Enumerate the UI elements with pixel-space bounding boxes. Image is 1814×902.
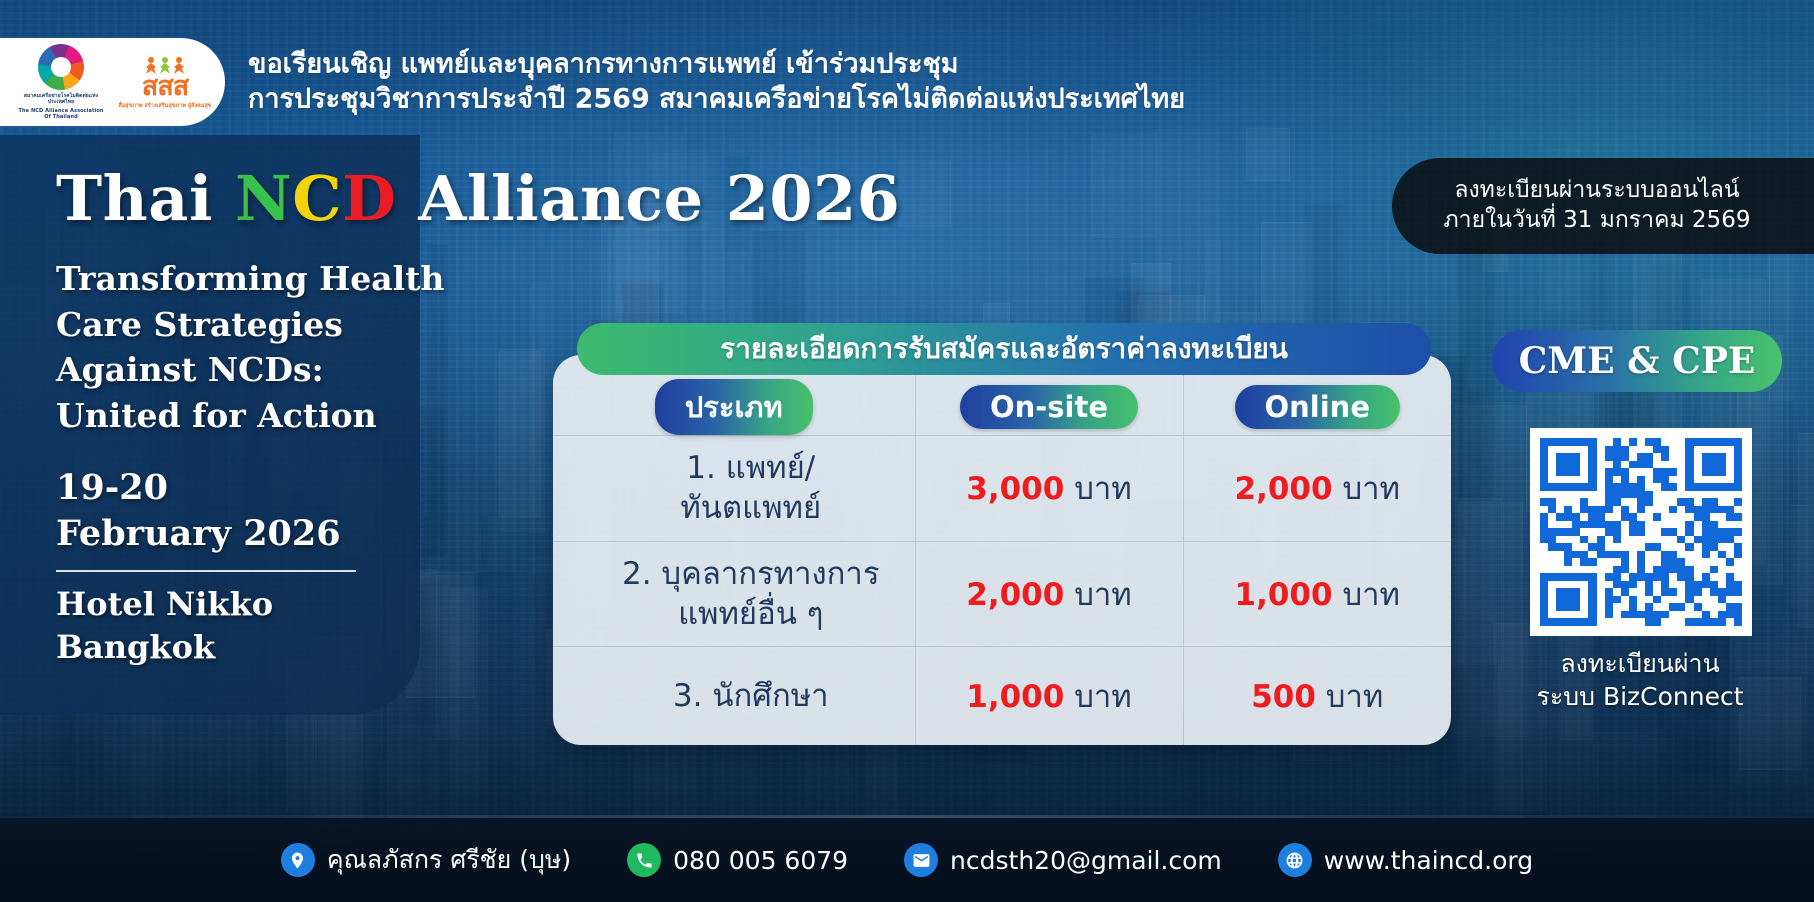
row-2-category-line-2: แพทย์อื่น ๆ xyxy=(597,594,905,634)
event-venue: Hotel Nikko Bangkok xyxy=(56,583,273,669)
sss-people-icon xyxy=(145,54,185,74)
deadline-line-1: ลงทะเบียนผ่านระบบออนไลน์ xyxy=(1454,176,1739,206)
theme-line-1: Transforming Health xyxy=(56,256,444,302)
table-row: 2. บุคลากรทางการ แพทย์อื่น ๆ 2,000 บาท 1… xyxy=(553,541,1451,647)
ncd-alliance-logo-text-th: สมาคมเครือข่ายโรคไม่ติดต่อแห่งประเทศไทย xyxy=(18,93,104,106)
table-row: 1. แพทย์/ ทันตแพทย์ 3,000 บาท 2,000 บาท xyxy=(553,436,1451,542)
ncd-alliance-logo-text-en: The NCD Alliance Association Of Thailand xyxy=(18,108,104,121)
contact-bar: คุณลภัสกร ศรีชัย (บุษ) 080 005 6079 ncds… xyxy=(0,818,1814,902)
event-date: 19-20 February 2026 xyxy=(56,465,341,556)
row-3-online-amount: 500 xyxy=(1251,679,1316,715)
row-2-online-unit: บาท xyxy=(1342,577,1400,613)
theme-line-3: Against NCDs: xyxy=(56,347,444,393)
row-1-onsite-amount: 3,000 xyxy=(966,471,1064,507)
row-3-online-unit: บาท xyxy=(1326,679,1384,715)
contact-item-website[interactable]: www.thaincd.org xyxy=(1278,843,1533,877)
rates-card: ประเภท On-site Online 1. แพทย์/ xyxy=(553,355,1451,745)
row-1-category: 1. แพทย์/ ทันตแพทย์ xyxy=(553,436,915,542)
qr-caption-line-1: ลงทะเบียนผ่าน xyxy=(1470,648,1810,681)
row-2-online-price: 1,000 บาท xyxy=(1183,541,1451,647)
row-2-online-amount: 1,000 xyxy=(1235,577,1333,613)
contact-item-email[interactable]: ncdsth20@gmail.com xyxy=(904,843,1222,877)
qr-caption: ลงทะเบียนผ่าน ระบบ BizConnect xyxy=(1470,648,1810,713)
title-letter-d: D xyxy=(342,162,396,235)
event-date-month-year: February 2026 xyxy=(56,511,341,557)
event-date-days: 19-20 xyxy=(56,465,341,511)
row-2-onsite-amount: 2,000 xyxy=(966,577,1064,613)
row-1-onsite-price: 3,000 บาท xyxy=(915,436,1183,542)
row-3-category-line-1: 3. นักศึกษา xyxy=(597,676,905,716)
title-letter-n: N xyxy=(235,162,292,235)
venue-line-2: Bangkok xyxy=(56,626,273,669)
header-pill-online: Online xyxy=(1235,385,1401,429)
header-pill-onsite: On-site xyxy=(960,385,1138,429)
rates-title-pill: รายละเอียดการรับสมัครและอัตราค่าลงทะเบีย… xyxy=(577,323,1431,375)
logo-pill: สมาคมเครือข่ายโรคไม่ติดต่อแห่งประเทศไทย … xyxy=(0,38,225,126)
row-3-category: 3. นักศึกษา xyxy=(553,647,915,745)
banner-line-1: ขอเรียนเชิญ แพทย์และบุคลากรทางการแพทย์ เ… xyxy=(248,47,1185,82)
row-3-onsite-amount: 1,000 xyxy=(966,679,1064,715)
rates-table: ประเภท On-site Online 1. แพทย์/ xyxy=(553,355,1451,745)
page-title: Thai NCD Alliance 2026 xyxy=(56,162,900,235)
globe-icon xyxy=(1278,843,1312,877)
row-1-category-line-2: ทันตแพทย์ xyxy=(597,488,905,528)
thaihealth-sss-logo: สสส สื่อสุขภาพ สร้างเสริมสุขภาพ สู่สังคม… xyxy=(116,54,214,110)
row-1-online-price: 2,000 บาท xyxy=(1183,436,1451,542)
row-1-online-unit: บาท xyxy=(1342,471,1400,507)
sss-logo-word: สสส xyxy=(142,73,188,100)
row-2-onsite-unit: บาท xyxy=(1074,577,1132,613)
registration-deadline-badge: ลงทะเบียนผ่านระบบออนไลน์ ภายในวันที่ 31 … xyxy=(1392,158,1814,254)
row-2-category-line-1: 2. บุคลากรทางการ xyxy=(597,554,905,594)
venue-line-1: Hotel Nikko xyxy=(56,583,273,626)
email-icon xyxy=(904,843,938,877)
theme-line-2: Care Strategies xyxy=(56,302,444,348)
contact-website-url: www.thaincd.org xyxy=(1324,846,1533,875)
contact-person-name: คุณลภัสกร ศรีชัย (บุษ) xyxy=(327,840,571,880)
contact-phone-number: 080 005 6079 xyxy=(673,846,848,875)
title-letter-c: C xyxy=(292,162,342,235)
rates-table-body: 1. แพทย์/ ทันตแพทย์ 3,000 บาท 2,000 บาท xyxy=(553,436,1451,746)
ncd-alliance-logo: สมาคมเครือข่ายโรคไม่ติดต่อแห่งประเทศไทย … xyxy=(18,44,104,121)
row-3-onsite-price: 1,000 บาท xyxy=(915,647,1183,745)
poster-root: สมาคมเครือข่ายโรคไม่ติดต่อแห่งประเทศไทย … xyxy=(0,0,1814,902)
row-2-onsite-price: 2,000 บาท xyxy=(915,541,1183,647)
row-1-onsite-unit: บาท xyxy=(1074,471,1132,507)
deadline-line-2: ภายในวันที่ 31 มกราคม 2569 xyxy=(1444,206,1751,236)
row-3-onsite-unit: บาท xyxy=(1074,679,1132,715)
banner-text: ขอเรียนเชิญ แพทย์และบุคลากรทางการแพทย์ เ… xyxy=(248,47,1185,116)
location-pin-icon xyxy=(281,843,315,877)
header-pill-category: ประเภท xyxy=(655,379,813,435)
banner-line-2: การประชุมวิชาการประจำปี 2569 สมาคมเครือข… xyxy=(248,82,1185,117)
qr-code-matrix xyxy=(1540,438,1742,626)
phone-icon xyxy=(627,843,661,877)
top-banner: สมาคมเครือข่ายโรคไม่ติดต่อแห่งประเทศไทย … xyxy=(0,38,1372,126)
row-3-online-price: 500 บาท xyxy=(1183,647,1451,745)
sss-logo-tagline: สื่อสุขภาพ สร้างเสริมสุขภาพ สู่สังคมสุข xyxy=(118,102,211,110)
row-1-category-line-1: 1. แพทย์/ xyxy=(597,448,905,488)
contact-item-phone[interactable]: 080 005 6079 xyxy=(627,843,848,877)
row-2-category: 2. บุคลากรทางการ แพทย์อื่น ๆ xyxy=(553,541,915,647)
contact-item-person: คุณลภัสกร ศรีชัย (บุษ) xyxy=(281,840,571,880)
row-1-online-amount: 2,000 xyxy=(1235,471,1333,507)
conference-theme: Transforming Health Care Strategies Agai… xyxy=(56,256,444,438)
ncd-alliance-logo-icon xyxy=(38,44,84,90)
qr-caption-line-2: ระบบ BizConnect xyxy=(1470,681,1810,714)
title-part-2: Alliance 2026 xyxy=(396,162,900,235)
cme-cpe-badge: CME & CPE xyxy=(1492,330,1782,392)
contact-email-address: ncdsth20@gmail.com xyxy=(950,846,1222,875)
table-row: 3. นักศึกษา 1,000 บาท 500 บาท xyxy=(553,647,1451,745)
divider-rule xyxy=(56,570,356,572)
title-part-1: Thai xyxy=(56,162,235,235)
qr-code[interactable] xyxy=(1530,428,1752,636)
theme-line-4: United for Action xyxy=(56,393,444,439)
